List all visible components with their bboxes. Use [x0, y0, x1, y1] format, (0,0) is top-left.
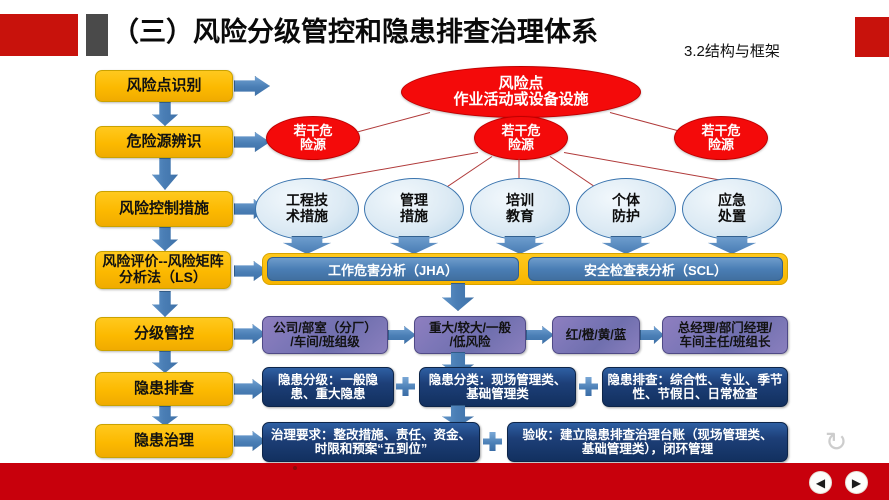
grading-line1: 红/橙/黄/蓝	[566, 328, 626, 342]
down-arrow-3	[152, 227, 178, 251]
investigation-line1: 隐患分级：一般隐	[278, 373, 378, 388]
flow-step-hazard-treatment[interactable]: 隐患治理	[95, 424, 233, 458]
investigation-line2: 基础管理类	[466, 387, 529, 402]
investigation-box-types[interactable]: 隐患排查：综合性、专业、季节 性、节假日、日常检查	[602, 367, 788, 407]
grading-line2: 车间主任/班组长	[680, 335, 771, 349]
slide-canvas: （三）风险分级管控和隐患排查治理体系 3.2结构与框架 风险点识别 危险源辨识 …	[0, 0, 889, 500]
flow-step-graded-control[interactable]: 分级管控	[95, 317, 233, 351]
down-arrow-5	[152, 351, 178, 373]
flow-step-label: 隐患治理	[134, 433, 194, 450]
grading-box-org-level[interactable]: 公司/部室（分厂） /车间/班组级	[262, 316, 388, 354]
header-gray-block	[86, 14, 108, 56]
down-arrow-analysis-to-grading	[442, 283, 474, 311]
grading-line1: 重大/较大/一般	[429, 321, 511, 335]
grading-line1: 总经理/部门经理/	[678, 321, 772, 335]
control-measure-ellipse-management[interactable]: 管理 措施	[364, 178, 464, 240]
measure-line2: 术措施	[286, 209, 328, 225]
control-measure-ellipse-ppe[interactable]: 个体 防护	[576, 178, 676, 240]
prev-slide-button[interactable]: ◀	[809, 471, 832, 494]
risk-point-line1: 风险点	[498, 76, 543, 93]
hazard-source-line2: 险源	[300, 138, 326, 152]
down-arrow-1	[152, 102, 178, 126]
hazard-source-line2: 险源	[708, 138, 734, 152]
grading-box-risk-level[interactable]: 重大/较大/一般 /低风险	[414, 316, 526, 354]
investigation-box-classification-level[interactable]: 隐患分级：一般隐 患、重大隐患	[262, 367, 394, 407]
measure-line2: 防护	[612, 209, 640, 225]
section-subtitle: 3.2结构与框架	[684, 40, 780, 61]
bottom-red-bar	[0, 463, 889, 500]
plus-icon-3	[483, 432, 502, 451]
plus-icon-1	[396, 377, 415, 396]
chevron-connector-1	[234, 76, 270, 96]
treatment-line2: 时限和预案“五到位”	[315, 442, 428, 457]
treatment-box-acceptance[interactable]: 验收：建立隐患排查治理台账（现场管理类、 基础管理类），闭环管理	[507, 422, 788, 462]
grading-line2: /低风险	[450, 335, 491, 349]
plus-icon-2	[579, 377, 598, 396]
flow-step-label: 分级管控	[134, 326, 194, 343]
analysis-method-label: 工作危害分析（JHA）	[328, 260, 458, 279]
measure-line2: 教育	[506, 209, 534, 225]
reload-icon[interactable]: ↻	[822, 428, 850, 456]
ellipse-down-arrow-4	[602, 236, 650, 254]
measure-line1: 工程技	[286, 193, 328, 209]
next-arrow-icon: ▶	[852, 477, 861, 489]
ellipse-down-arrow-3	[496, 236, 544, 254]
measure-line1: 培训	[506, 193, 534, 209]
flow-step-label: 隐患排查	[134, 381, 194, 398]
analysis-method-scl[interactable]: 安全检查表分析（SCL）	[528, 257, 783, 281]
flow-step-hazard-source-identification[interactable]: 危险源辨识	[95, 126, 233, 158]
treatment-line1: 治理要求：整改措施、责任、资金、	[271, 428, 471, 443]
investigation-line1: 隐患排查：综合性、专业、季节	[607, 373, 782, 388]
hazard-source-line1: 若干危	[293, 124, 332, 138]
flow-step-hazard-investigation[interactable]: 隐患排查	[95, 372, 233, 406]
flow-step-label: 风险点识别	[126, 78, 201, 95]
chevron-grading-3	[640, 326, 664, 344]
bottom-marker-dot	[293, 466, 297, 470]
control-measure-ellipse-engineering[interactable]: 工程技 术措施	[255, 178, 359, 240]
hazard-source-line1: 若干危	[501, 124, 540, 138]
control-measure-ellipse-emergency[interactable]: 应急 处置	[682, 178, 782, 240]
investigation-line2: 患、重大隐患	[290, 387, 365, 402]
grading-box-responsible-roles[interactable]: 总经理/部门经理/ 车间主任/班组长	[662, 316, 788, 354]
risk-point-ellipse[interactable]: 风险点 作业活动或设备设施	[401, 66, 641, 118]
treatment-line1: 验收：建立隐患排查治理台账（现场管理类、	[522, 428, 772, 443]
down-arrow-4	[152, 291, 178, 317]
ellipse-down-arrow-2	[390, 236, 438, 254]
analysis-method-label: 安全检查表分析（SCL）	[584, 260, 727, 279]
measure-line2: 措施	[400, 209, 428, 225]
investigation-box-category[interactable]: 隐患分类：现场管理类、 基础管理类	[419, 367, 576, 407]
hazard-source-ellipse-2[interactable]: 若干危 险源	[474, 116, 568, 160]
down-arrow-2	[152, 158, 178, 190]
ellipse-down-arrow-1	[283, 236, 331, 254]
measure-line1: 个体	[612, 193, 640, 209]
hazard-source-ellipse-1[interactable]: 若干危 险源	[266, 116, 360, 160]
flow-step-label: 危险源辨识	[126, 134, 201, 151]
next-slide-button[interactable]: ▶	[845, 471, 868, 494]
header-red-block-right	[855, 17, 889, 57]
flow-step-risk-control-measures[interactable]: 风险控制措施	[95, 191, 233, 227]
investigation-line2: 性、节假日、日常检查	[632, 387, 757, 402]
chevron-grading-2	[526, 326, 554, 344]
measure-line2: 处置	[718, 209, 746, 225]
analysis-method-jha[interactable]: 工作危害分析（JHA）	[267, 257, 519, 281]
grading-line1: 公司/部室（分厂）	[273, 321, 376, 335]
grading-box-color-code[interactable]: 红/橙/黄/蓝	[552, 316, 640, 354]
treatment-line2: 基础管理类），闭环管理	[582, 442, 713, 457]
hazard-source-line2: 险源	[508, 138, 534, 152]
control-measure-ellipse-training[interactable]: 培训 教育	[470, 178, 570, 240]
grading-line2: /车间/班组级	[290, 335, 359, 349]
measure-line1: 应急	[718, 193, 746, 209]
treatment-box-requirements[interactable]: 治理要求：整改措施、责任、资金、 时限和预案“五到位”	[262, 422, 480, 462]
flow-step-risk-point-identification[interactable]: 风险点识别	[95, 70, 233, 102]
flow-step-label: 风险控制措施	[119, 201, 209, 218]
page-title: （三）风险分级管控和隐患排查治理体系	[112, 10, 712, 54]
down-arrow-6	[152, 406, 178, 426]
chevron-grading-1	[388, 326, 416, 344]
flow-step-label: 风险评价--风险矩阵分析法（LS）	[99, 254, 227, 285]
header-red-block-left	[0, 14, 78, 56]
hazard-source-line1: 若干危	[701, 124, 740, 138]
hazard-source-ellipse-3[interactable]: 若干危 险源	[674, 116, 768, 160]
investigation-line1: 隐患分类：现场管理类、	[429, 373, 567, 388]
prev-arrow-icon: ◀	[816, 477, 825, 489]
chevron-connector-2	[234, 132, 270, 152]
risk-point-line2: 作业活动或设备设施	[453, 92, 588, 109]
measure-line1: 管理	[400, 193, 428, 209]
flow-step-risk-evaluation-ls-matrix[interactable]: 风险评价--风险矩阵分析法（LS）	[95, 251, 231, 289]
ellipse-down-arrow-5	[708, 236, 756, 254]
